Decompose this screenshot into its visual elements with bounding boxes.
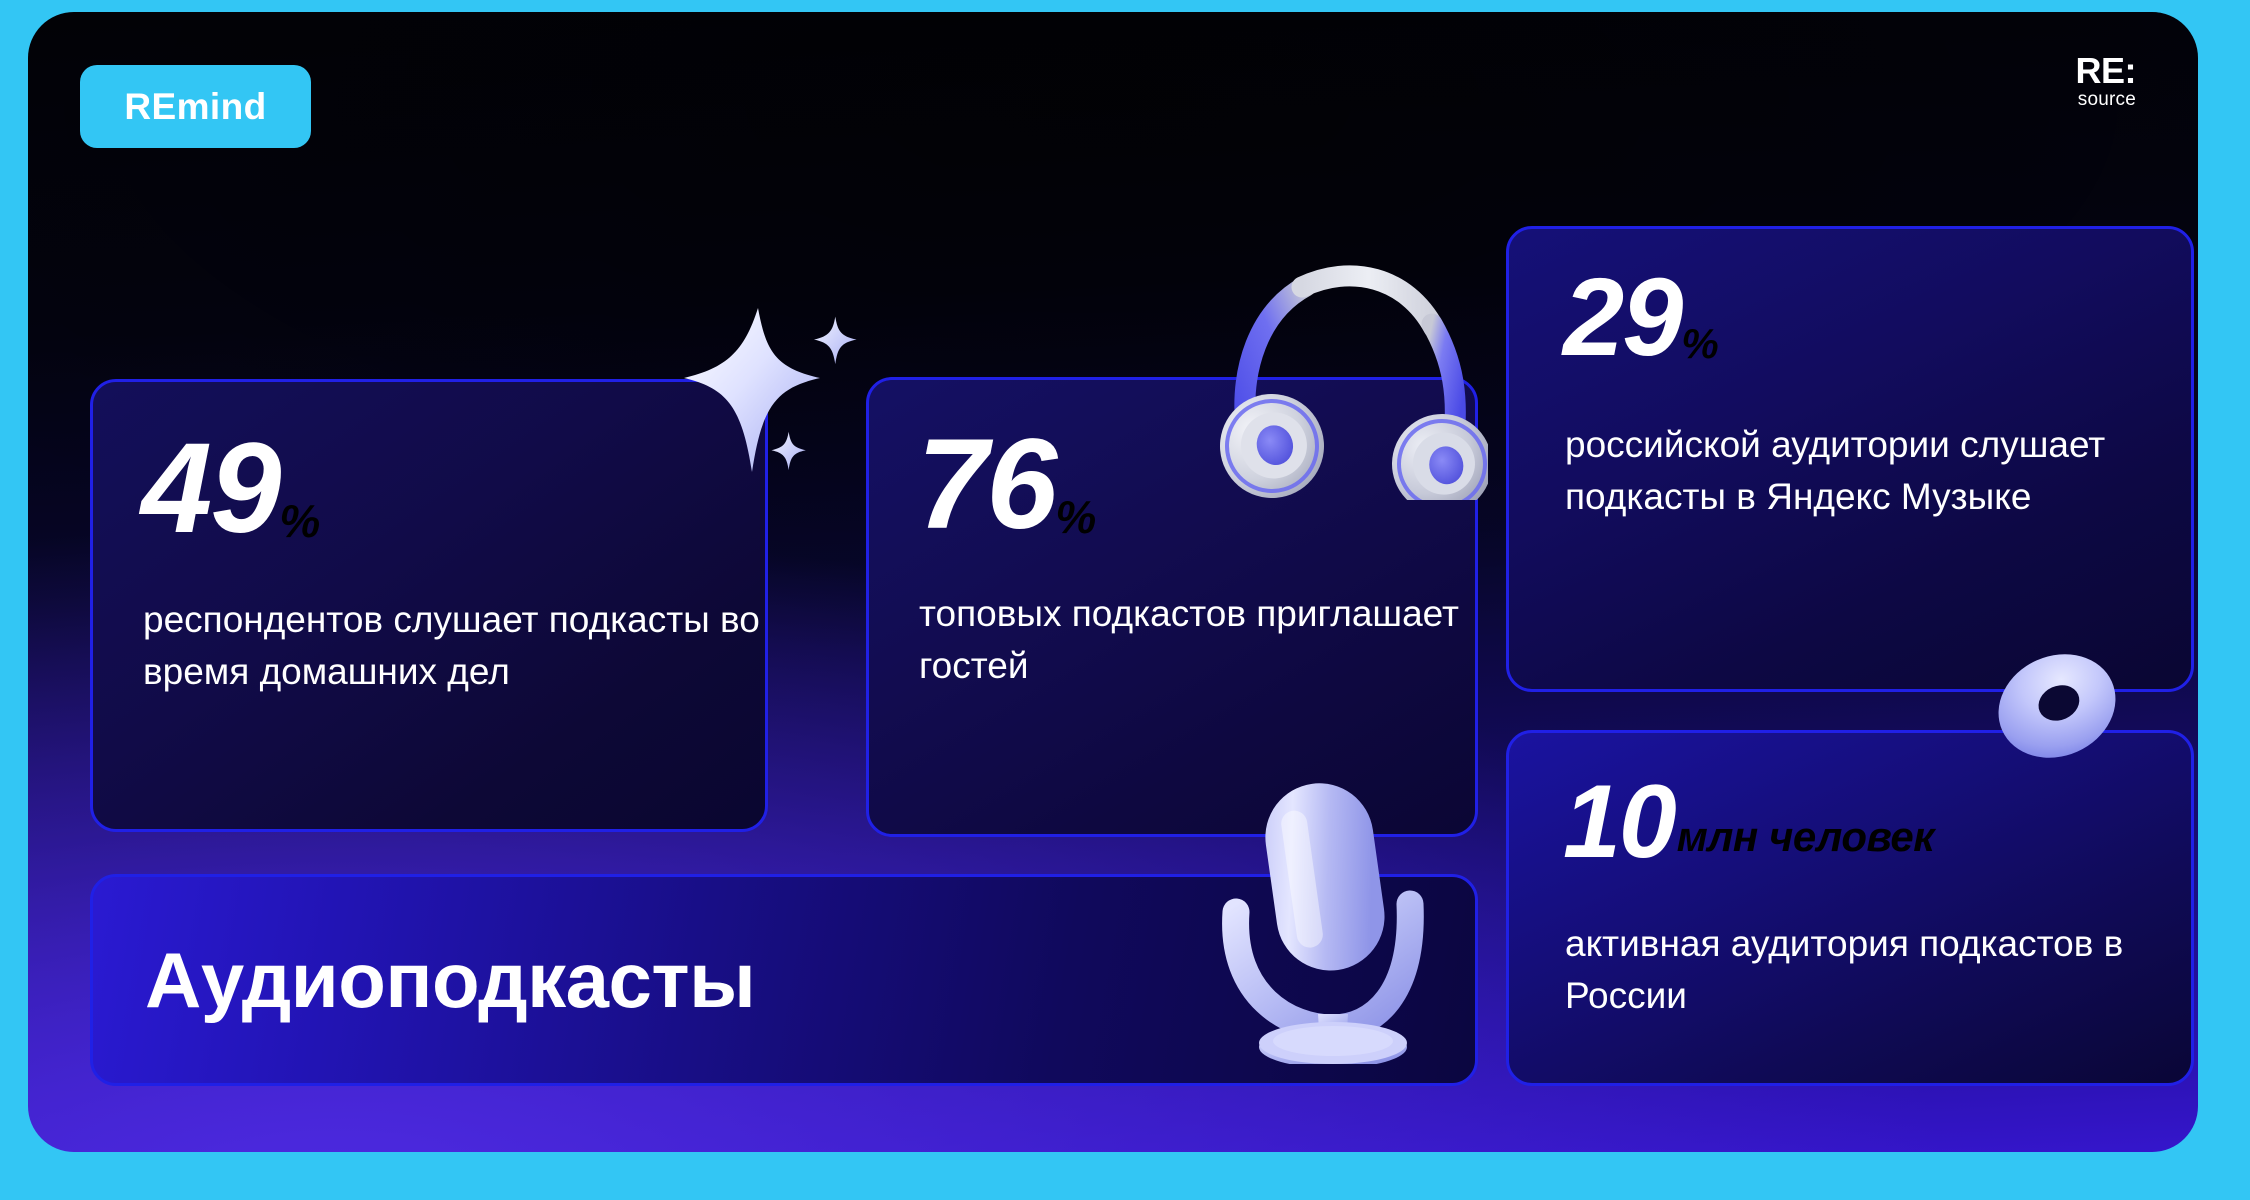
- logo-main-text: RE:: [2076, 54, 2137, 88]
- stat-number-value: 76: [917, 426, 1055, 544]
- stat-description: российской аудитории слушает подкасты в …: [1565, 419, 2191, 523]
- stat-number-value: 10: [1563, 775, 1675, 871]
- brand-badge[interactable]: REmind: [80, 65, 311, 148]
- resource-logo[interactable]: RE: source: [2076, 54, 2137, 110]
- stat-number-row: 29 %: [1563, 267, 1718, 368]
- infographic-frame: REmind RE: source 49 % респондентов слуш…: [0, 0, 2250, 1200]
- brand-badge-label: REmind: [124, 88, 266, 125]
- stat-description: активная аудитория подкастов в России: [1565, 918, 2191, 1022]
- infographic-panel: REmind RE: source 49 % респондентов слуш…: [28, 12, 2198, 1152]
- stat-number-unit: %: [1681, 320, 1718, 368]
- title-card: Аудиоподкасты: [90, 874, 1478, 1086]
- stat-card-49: 49 % респондентов слушает подкасты во вр…: [90, 379, 768, 832]
- stat-card-76: 76 % топовых подкастов приглашает гостей: [866, 377, 1478, 837]
- stat-number-value: 49: [141, 430, 279, 548]
- stat-number-unit: %: [279, 494, 319, 548]
- page-title: Аудиоподкасты: [145, 941, 755, 1019]
- stat-number-row: 49 %: [141, 430, 320, 548]
- stat-number-value: 29: [1563, 267, 1681, 368]
- logo-sub-text: source: [2076, 90, 2137, 110]
- stat-number-unit: %: [1055, 490, 1095, 544]
- stat-number-unit: млн человек: [1677, 813, 1934, 871]
- stat-card-29: 29 % российской аудитории слушает подкас…: [1506, 226, 2194, 692]
- stat-description: респондентов слушает подкасты во время д…: [143, 594, 765, 698]
- stat-description: топовых подкастов приглашает гостей: [919, 588, 1475, 692]
- stat-number-row: 76 %: [917, 426, 1096, 544]
- stat-card-10mln: 10 млн человек активная аудитория подкас…: [1506, 730, 2194, 1086]
- stat-number-row: 10 млн человек: [1563, 775, 1934, 871]
